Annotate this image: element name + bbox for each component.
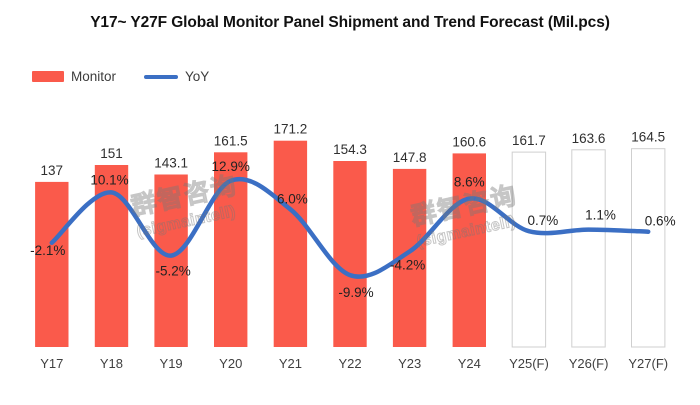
bar-Y17[interactable] (35, 182, 68, 347)
chart-container: Y17~ Y27F Global Monitor Panel Shipment … (0, 0, 700, 405)
x-tick-Y22: Y22 (320, 352, 380, 376)
bar-value-label-Y23: 147.8 (393, 150, 427, 165)
bar-Y27(F)[interactable] (632, 149, 665, 347)
x-tick-Y17: Y17 (22, 352, 82, 376)
bar-Y21[interactable] (274, 141, 307, 347)
yoy-value-label-Y23: -4.2% (390, 258, 425, 273)
yoy-value-label-Y21: 6.0% (277, 191, 308, 206)
bar-value-label-Y17: 137 (41, 163, 64, 178)
x-tick-Y21: Y21 (261, 352, 321, 376)
x-axis-tick-labels: Y17Y18Y19Y20Y21Y22Y23Y24Y25(F)Y26(F)Y27(… (0, 352, 700, 376)
bar-value-label-Y18: 151 (100, 146, 123, 161)
x-tick-Y18: Y18 (82, 352, 142, 376)
bar-value-label-Y25(F): 161.7 (512, 133, 546, 148)
x-tick-Y25(F): Y25(F) (499, 352, 559, 376)
x-tick-Y20: Y20 (201, 352, 261, 376)
yoy-value-label-Y25(F): 0.7% (528, 213, 559, 228)
bar-Y25(F)[interactable] (512, 152, 545, 347)
yoy-value-label-Y18: 10.1% (90, 172, 128, 187)
x-tick-Y23: Y23 (380, 352, 440, 376)
x-tick-Y26(F): Y26(F) (559, 352, 619, 376)
bar-value-label-Y27(F): 164.5 (631, 130, 665, 145)
bar-value-label-Y20: 161.5 (214, 133, 248, 148)
bar-Y22[interactable] (333, 161, 366, 347)
yoy-value-label-Y17: -2.1% (30, 243, 65, 258)
bar-value-label-Y21: 171.2 (274, 122, 308, 137)
bars-layer (35, 141, 665, 347)
bar-value-label-Y24: 160.6 (452, 134, 486, 149)
x-tick-Y27(F): Y27(F) (618, 352, 678, 376)
x-tick-Y19: Y19 (141, 352, 201, 376)
bar-value-label-Y19: 143.1 (154, 156, 188, 171)
bar-Y26(F)[interactable] (572, 150, 605, 347)
yoy-value-label-Y19: -5.2% (155, 264, 190, 279)
bar-value-label-Y22: 154.3 (333, 142, 367, 157)
chart-plot-area: 137151143.1161.5171.2154.3147.8160.6161.… (0, 0, 700, 405)
yoy-value-label-Y20: 12.9% (212, 159, 250, 174)
yoy-value-label-Y24: 8.6% (454, 175, 485, 190)
yoy-value-label-Y27(F): 0.6% (645, 214, 676, 229)
yoy-value-label-Y26(F): 1.1% (585, 208, 616, 223)
x-tick-Y24: Y24 (439, 352, 499, 376)
yoy-value-label-Y22: -9.9% (338, 285, 373, 300)
bar-Y19[interactable] (154, 175, 187, 348)
bar-value-label-Y26(F): 163.6 (572, 131, 606, 146)
